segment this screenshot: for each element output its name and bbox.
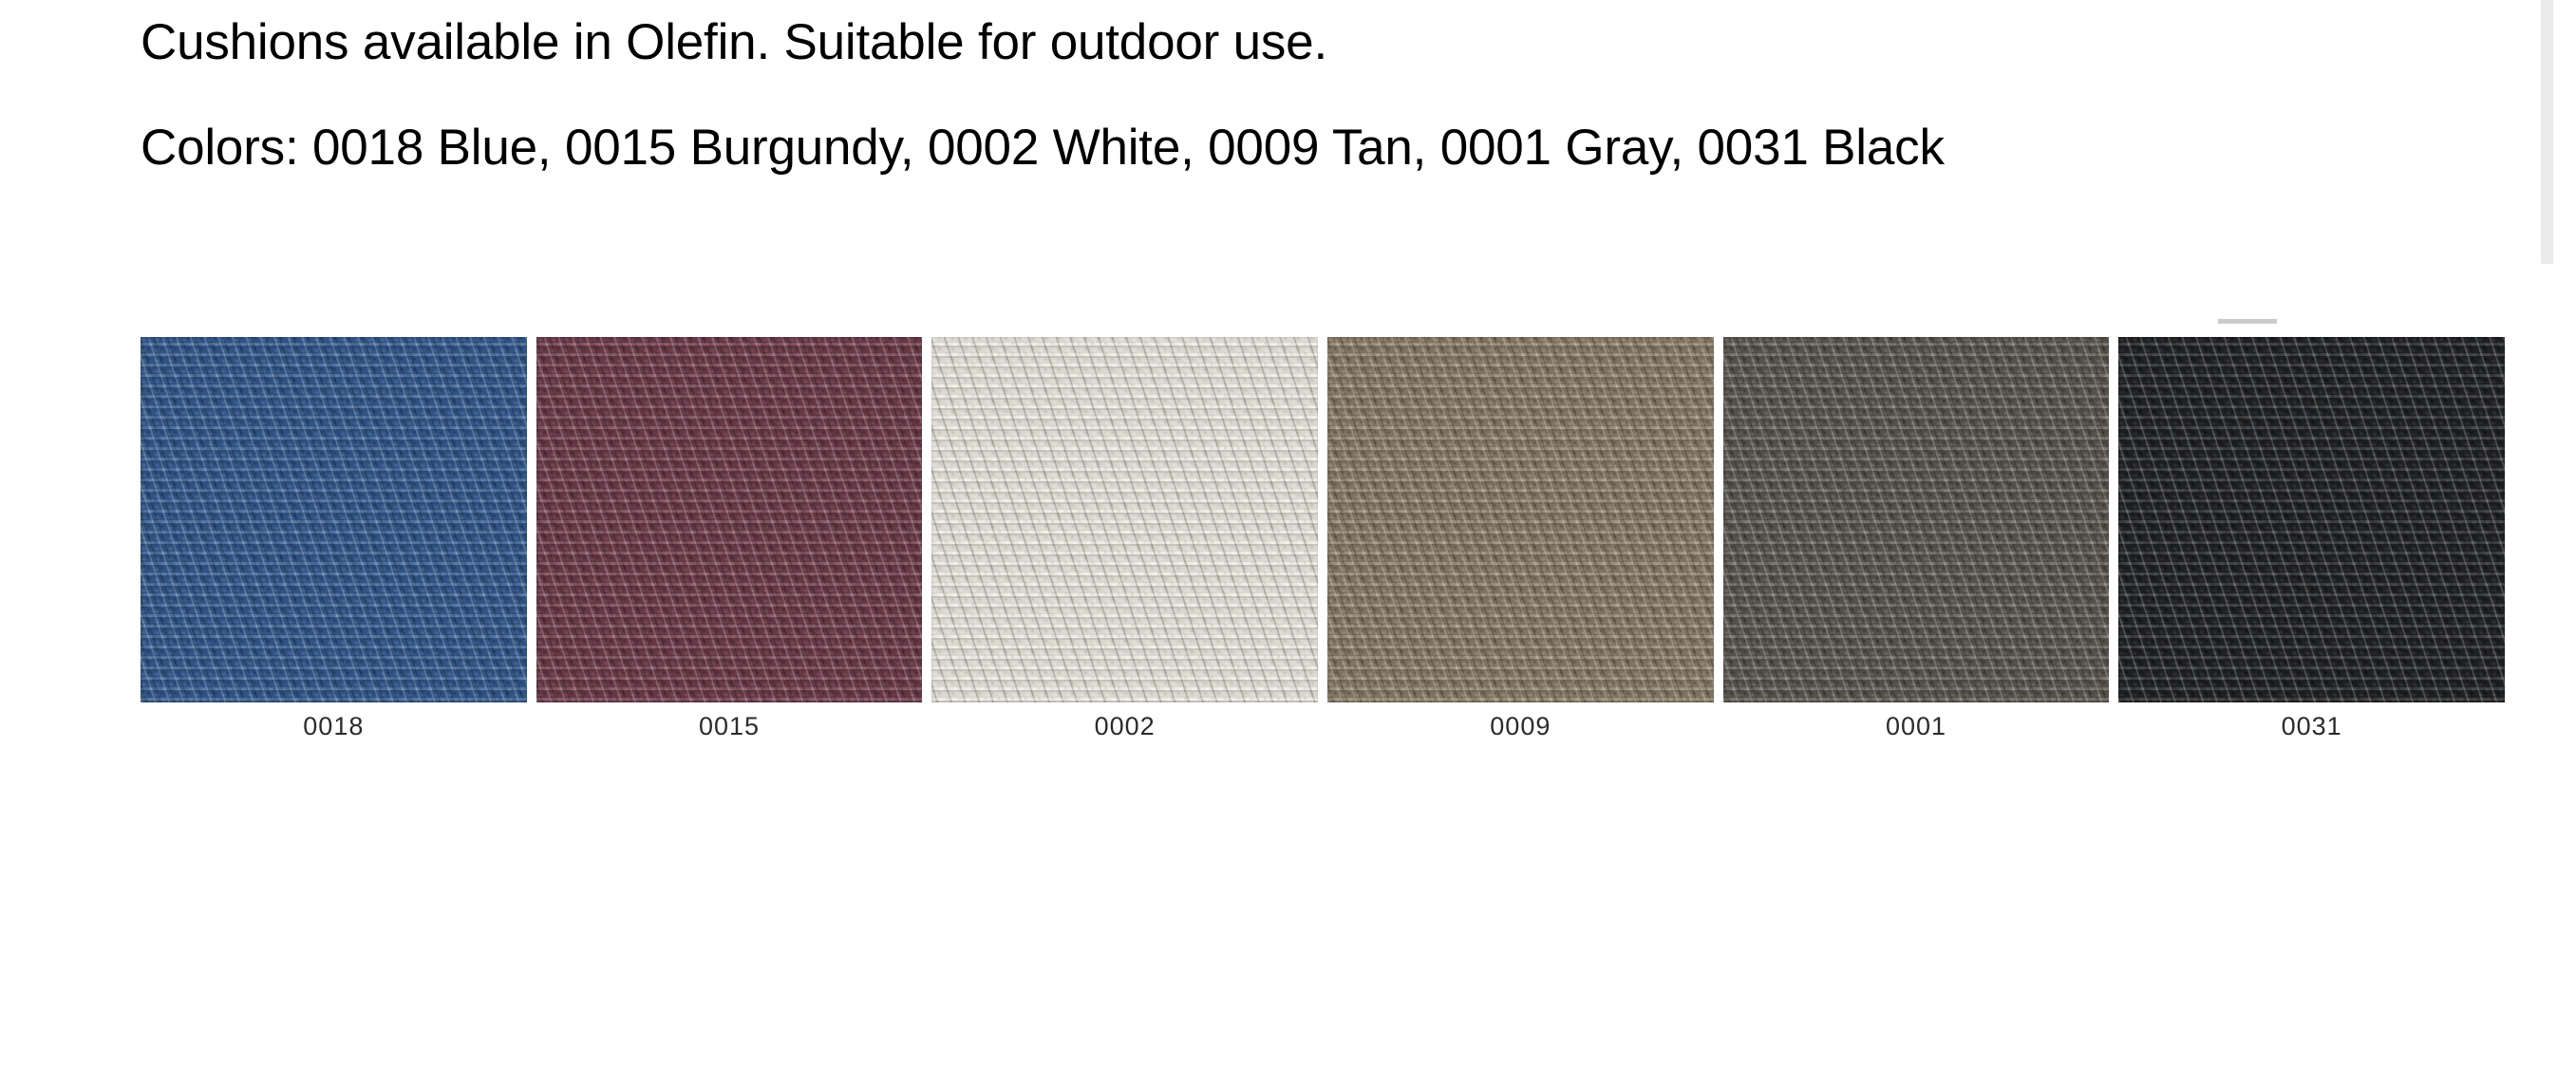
description-text-block: Cushions available in Olefin. Suitable f…: [141, 17, 2419, 173]
fabric-swatch-0009[interactable]: 0009: [1327, 337, 1714, 764]
fabric-swatch-0015[interactable]: 0015: [536, 337, 923, 764]
swatch-color-tile: [141, 337, 527, 702]
availability-description-line: Cushions available in Olefin. Suitable f…: [141, 17, 2419, 67]
vertical-scrollbar-thumb[interactable]: [2541, 0, 2553, 264]
swatch-color-tile: [931, 337, 1318, 702]
fabric-swatch-0018[interactable]: 0018: [141, 337, 527, 764]
vertical-scrollbar-track[interactable]: [2552, 0, 2565, 1066]
scan-artifact-mark: [2218, 319, 2277, 324]
swatch-color-tile: [1723, 337, 2110, 702]
fabric-swatch-0031[interactable]: 0031: [2118, 337, 2505, 764]
swatch-code-label: 0001: [1723, 712, 2110, 741]
swatch-color-tile: [536, 337, 923, 702]
swatch-code-label: 0018: [141, 712, 527, 741]
swatch-color-tile: [2118, 337, 2505, 702]
colors-list-line: Colors: 0018 Blue, 0015 Burgundy, 0002 W…: [141, 122, 2419, 173]
swatch-code-label: 0015: [536, 712, 923, 741]
fabric-swatch-0002[interactable]: 0002: [931, 337, 1318, 764]
swatch-code-label: 0009: [1327, 712, 1714, 741]
document-page: Cushions available in Olefin. Suitable f…: [0, 0, 2576, 1066]
fabric-swatch-strip: 001800150002000900010031: [141, 337, 2505, 764]
fabric-swatch-0001[interactable]: 0001: [1723, 337, 2110, 764]
swatch-color-tile: [1327, 337, 1714, 702]
swatch-code-label: 0031: [2118, 712, 2505, 741]
swatch-code-label: 0002: [931, 712, 1318, 741]
